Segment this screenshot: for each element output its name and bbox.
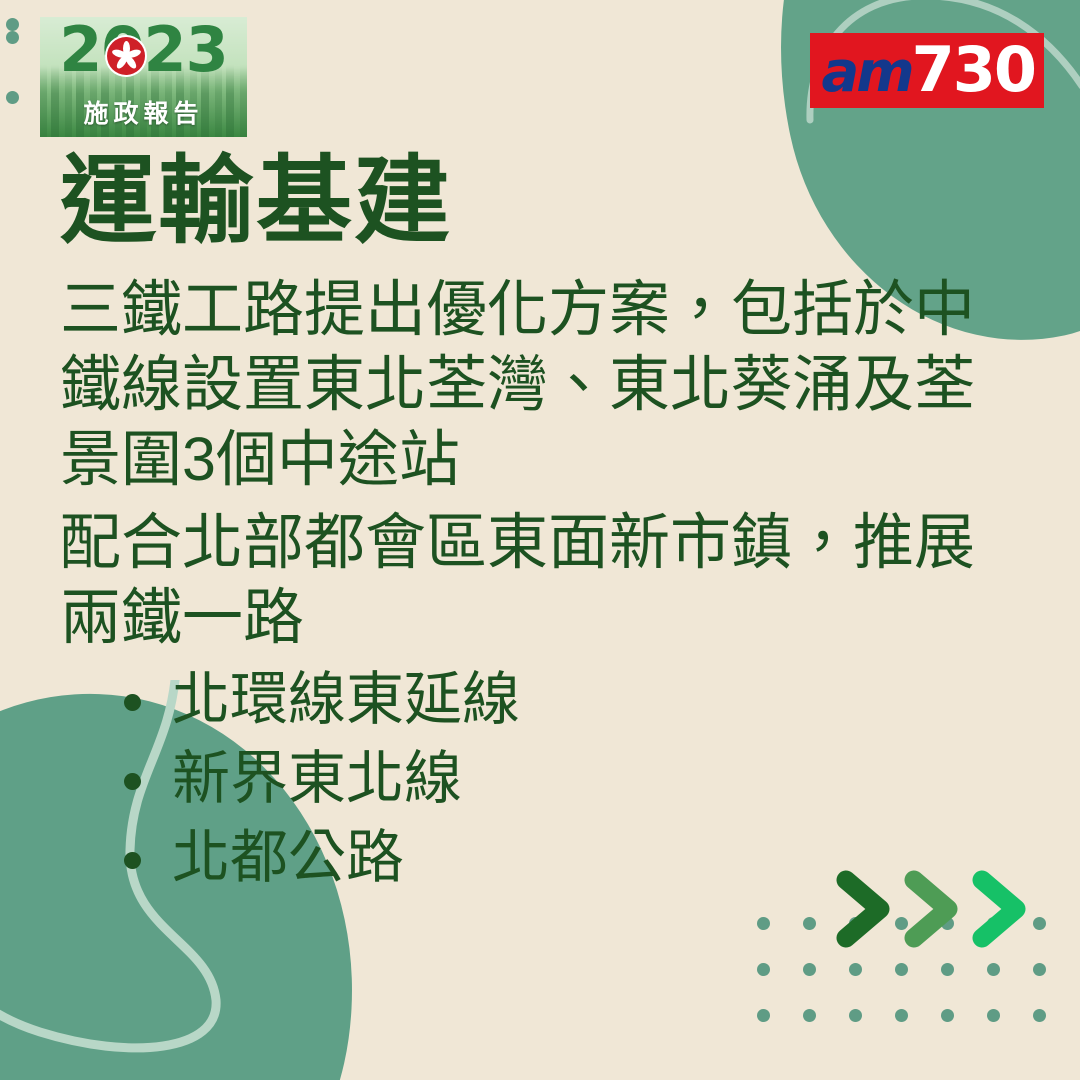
bullet-list: 北環線東延線 新界東北線 北都公路	[60, 661, 1040, 898]
am730-prefix: am	[821, 40, 911, 105]
infographic-card: 2023 施政報告 am730 運輸基建 三鐵工路提出優化方案，包括於中鐵線設置…	[0, 0, 1080, 1080]
chevron-right-icon	[898, 870, 964, 948]
policy-address-logo: 2023 施政報告	[40, 17, 247, 137]
chevron-right-icon	[966, 870, 1032, 948]
paragraph-1: 三鐵工路提出優化方案，包括於中鐵線設置東北荃灣、東北葵涌及荃景圍3個中途站	[60, 272, 985, 497]
forward-chevrons	[830, 870, 1032, 948]
am730-logo: am730	[810, 33, 1044, 108]
bauhinia-emblem-icon	[107, 37, 145, 75]
page-title: 運輸基建	[60, 150, 1040, 254]
chevron-right-icon	[830, 870, 896, 948]
list-item: 北環線東延線	[120, 661, 1040, 740]
paragraph-2: 配合北部都會區東面新市鎮，推展兩鐵一路	[60, 505, 985, 655]
content-area: 運輸基建 三鐵工路提出優化方案，包括於中鐵線設置東北荃灣、東北葵涌及荃景圍3個中…	[60, 150, 1040, 897]
list-item: 新界東北線	[120, 740, 1040, 819]
am730-number: 730	[912, 33, 1035, 106]
policy-address-subtitle: 施政報告	[40, 94, 247, 130]
